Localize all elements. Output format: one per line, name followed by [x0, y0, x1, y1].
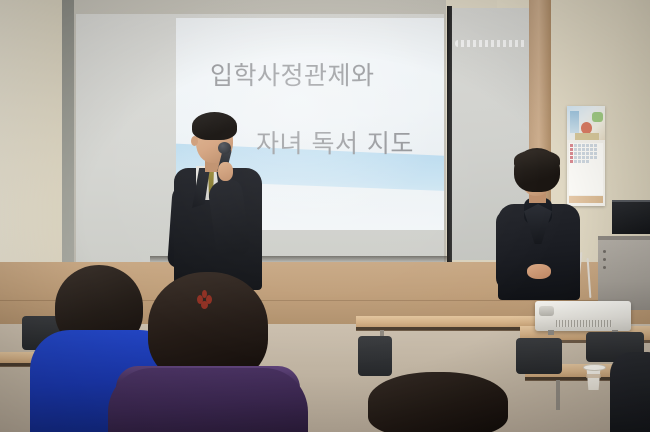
slide-title-line-2: 자녀 독서 지도 [256, 124, 444, 160]
hair [192, 112, 237, 140]
av-cart-handle [598, 236, 650, 240]
clasped-hands [527, 264, 551, 279]
chair [358, 336, 392, 376]
presenter-male [168, 110, 280, 290]
projector-lens [539, 306, 554, 316]
calendar-illustration [567, 106, 605, 140]
audience-head-lower-right [368, 372, 508, 432]
audience-far-right [610, 352, 650, 432]
presenter-female [494, 148, 584, 300]
av-cart [598, 238, 650, 310]
seminar-room-photo: · · · · · · · · · · · 입학사정관제와 자녀 독서 지도 [0, 0, 650, 432]
microphone-head [218, 142, 231, 154]
paper-cup-band [586, 374, 601, 378]
chair [516, 338, 562, 374]
slide-title-line-1: 입학사정관제와 [210, 56, 444, 92]
projector-vent [556, 320, 612, 327]
audience-body-purple [108, 368, 308, 432]
paper-cup-rim [583, 364, 606, 371]
laptop [612, 200, 650, 234]
hair-clip [196, 290, 213, 309]
hand [218, 162, 233, 181]
wooden-pillar-left [40, 0, 64, 300]
whiteboard-marks [455, 40, 527, 47]
